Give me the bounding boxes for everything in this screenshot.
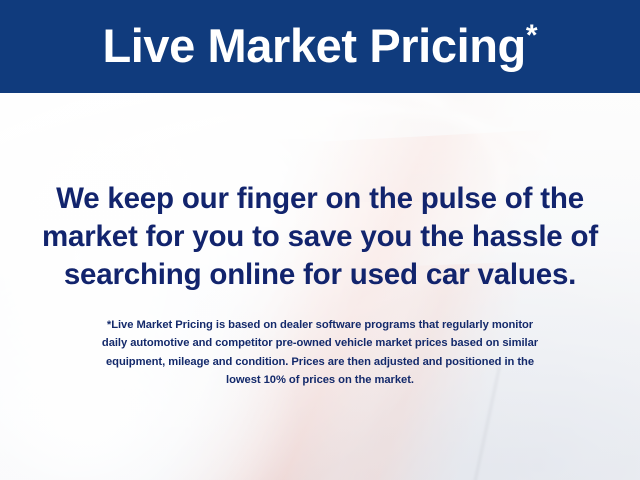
title-banner: Live Market Pricing* xyxy=(0,0,640,93)
banner-title-asterisk: * xyxy=(526,19,538,52)
disclaimer-line-4: lowest 10% of prices on the market. xyxy=(0,371,640,389)
headline-line-2: market for you to save you the hassle of xyxy=(0,218,640,256)
headline-line-1: We keep our finger on the pulse of the xyxy=(0,180,640,218)
headline: We keep our finger on the pulse of the m… xyxy=(0,180,640,294)
disclaimer-line-3: equipment, mileage and condition. Prices… xyxy=(0,353,640,371)
live-market-pricing-banner: Live Market Pricing* We keep our finger … xyxy=(0,0,640,480)
headline-line-3: searching online for used car values. xyxy=(0,256,640,294)
disclaimer-line-2: daily automotive and competitor pre-owne… xyxy=(0,334,640,352)
disclaimer-line-1: *Live Market Pricing is based on dealer … xyxy=(0,316,640,334)
banner-title: Live Market Pricing* xyxy=(102,21,537,69)
disclaimer-text: *Live Market Pricing is based on dealer … xyxy=(0,316,640,390)
banner-title-text: Live Market Pricing xyxy=(102,19,525,72)
